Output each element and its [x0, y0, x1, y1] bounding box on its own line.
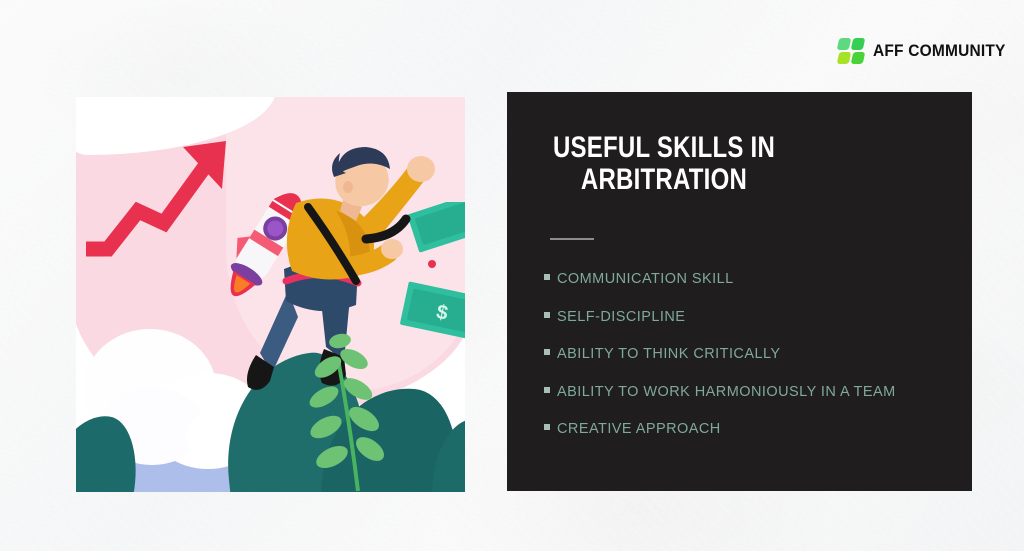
list-item: CREATIVE APPROACH — [544, 421, 950, 437]
list-item-label: ABILITY TO WORK HARMONIOUSLY IN A TEAM — [557, 384, 896, 400]
brand-logo[interactable]: AFF COMMUNITY — [838, 38, 1014, 65]
plant-sprig-icon — [292, 315, 392, 492]
list-item-label: CREATIVE APPROACH — [557, 421, 721, 437]
title-divider — [550, 238, 594, 240]
list-item: ABILITY TO WORK HARMONIOUSLY IN A TEAM — [544, 384, 950, 400]
illustration-image: $ — [76, 97, 465, 492]
brand-name: AFF COMMUNITY — [873, 42, 1006, 61]
bullet-square-icon — [544, 274, 550, 280]
skills-list: COMMUNICATION SKILL SELF-DISCIPLINE ABIL… — [544, 271, 950, 459]
list-item: SELF-DISCIPLINE — [544, 309, 950, 325]
bullet-square-icon — [544, 424, 550, 430]
four-squares-logo-icon — [838, 38, 865, 65]
bullet-square-icon — [544, 387, 550, 393]
bullet-square-icon — [544, 312, 550, 318]
content-panel-inner: USEFUL SKILLS IN ARBITRATION COMMUNICATI… — [528, 92, 952, 491]
list-item-label: ABILITY TO THINK CRITICALLY — [557, 346, 781, 362]
page-title: USEFUL SKILLS IN ARBITRATION — [528, 132, 800, 196]
slide-canvas: AFF COMMUNITY — [0, 0, 1024, 551]
list-item-label: COMMUNICATION SKILL — [557, 271, 734, 287]
bullet-square-icon — [544, 349, 550, 355]
list-item: ABILITY TO THINK CRITICALLY — [544, 346, 950, 362]
content-panel: USEFUL SKILLS IN ARBITRATION COMMUNICATI… — [507, 92, 972, 491]
list-item-label: SELF-DISCIPLINE — [557, 309, 685, 325]
list-item: COMMUNICATION SKILL — [544, 271, 950, 287]
